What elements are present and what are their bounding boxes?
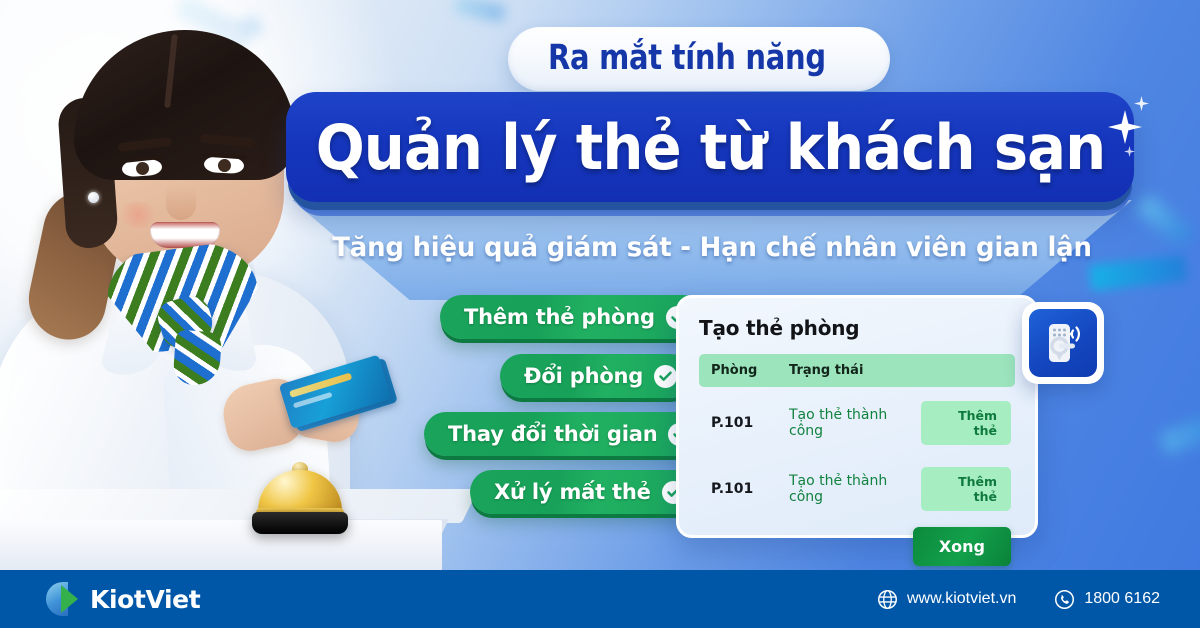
cell-action: Thêm thẻ bbox=[909, 387, 1015, 453]
table-row: P.101 Tạo thẻ thành công Thêm thẻ bbox=[699, 453, 1015, 519]
smart-door-lock-badge bbox=[1022, 302, 1104, 384]
add-card-button[interactable]: Thêm thẻ bbox=[921, 467, 1011, 511]
column-header-action bbox=[909, 354, 1015, 387]
footer-bar: KiotViet www.kiotviet.vn 1800 6162 bbox=[0, 570, 1200, 628]
cell-action: Thêm thẻ bbox=[909, 453, 1015, 519]
feature-pill-change-time[interactable]: Thay đổi thời gian bbox=[424, 412, 707, 456]
feature-pill-label: Đổi phòng bbox=[524, 364, 643, 388]
column-header-status: Trạng thái bbox=[777, 354, 909, 387]
eyebrow-badge: Ra mắt tính năng bbox=[508, 27, 890, 91]
feature-pill-lost-card[interactable]: Xử lý mất thẻ bbox=[470, 470, 701, 514]
banner-canvas: Ra mắt tính năng Tăng hiệu quả giám sát … bbox=[0, 0, 1200, 628]
service-bell-base bbox=[252, 512, 348, 534]
nose bbox=[166, 178, 196, 220]
add-card-button[interactable]: Thêm thẻ bbox=[921, 401, 1011, 445]
ribbon-decoration bbox=[1158, 408, 1200, 456]
website-text: www.kiotviet.vn bbox=[907, 590, 1016, 608]
feature-pill-change-room[interactable]: Đổi phòng bbox=[500, 354, 693, 398]
room-card-table: Phòng Trạng thái P.101 Tạo thẻ thành côn… bbox=[699, 354, 1015, 519]
hotline-text: 1800 6162 bbox=[1084, 590, 1160, 608]
cell-room: P.101 bbox=[699, 453, 777, 519]
subtitle-text: Tăng hiệu quả giám sát - Hạn chế nhân vi… bbox=[309, 232, 1115, 263]
phone-icon bbox=[1054, 589, 1075, 610]
table-row: P.101 Tạo thẻ thành công Thêm thẻ bbox=[699, 387, 1015, 453]
column-header-room: Phòng bbox=[699, 354, 777, 387]
counter-face bbox=[0, 520, 442, 575]
table-header-row: Phòng Trạng thái bbox=[699, 354, 1015, 387]
cell-status: Tạo thẻ thành công bbox=[777, 387, 909, 453]
feature-pill-label: Xử lý mất thẻ bbox=[494, 480, 651, 504]
cell-room: P.101 bbox=[699, 387, 777, 453]
hair bbox=[74, 30, 296, 180]
headline-banner: Quản lý thẻ từ khách sạn bbox=[286, 92, 1134, 202]
brand-name: KiotViet bbox=[90, 585, 200, 614]
website-link[interactable]: www.kiotviet.vn bbox=[877, 589, 1016, 610]
earring bbox=[88, 192, 99, 203]
brand-logo[interactable]: KiotViet bbox=[46, 582, 200, 616]
footer-contacts: www.kiotviet.vn 1800 6162 bbox=[877, 589, 1160, 610]
uniform-scarf bbox=[104, 239, 261, 355]
feature-pill-label: Thay đổi thời gian bbox=[448, 422, 657, 446]
kiotviet-logo-icon bbox=[46, 582, 80, 616]
counter-top bbox=[0, 489, 478, 523]
panel-footer: Xong bbox=[699, 527, 1015, 566]
feature-pill-add-card[interactable]: Thêm thẻ phòng bbox=[440, 295, 705, 339]
reception-counter bbox=[0, 490, 470, 575]
feature-pill-label: Thêm thẻ phòng bbox=[464, 305, 655, 329]
panel-title: Tạo thẻ phòng bbox=[699, 316, 1015, 340]
globe-icon bbox=[877, 589, 898, 610]
cell-status: Tạo thẻ thành công bbox=[777, 453, 909, 519]
sparkle-icon bbox=[1134, 96, 1149, 111]
done-button[interactable]: Xong bbox=[913, 527, 1011, 566]
hotline[interactable]: 1800 6162 bbox=[1054, 589, 1160, 610]
create-card-panel: Tạo thẻ phòng Phòng Trạng thái P.101 Tạo… bbox=[676, 295, 1038, 538]
eyebrow-label: Ra mắt tính năng bbox=[548, 38, 826, 78]
page-title: Quản lý thẻ từ khách sạn bbox=[315, 111, 1105, 184]
ribbon-decoration bbox=[1135, 193, 1195, 248]
check-circle-icon bbox=[654, 365, 677, 388]
smart-door-lock-icon bbox=[1029, 309, 1097, 377]
